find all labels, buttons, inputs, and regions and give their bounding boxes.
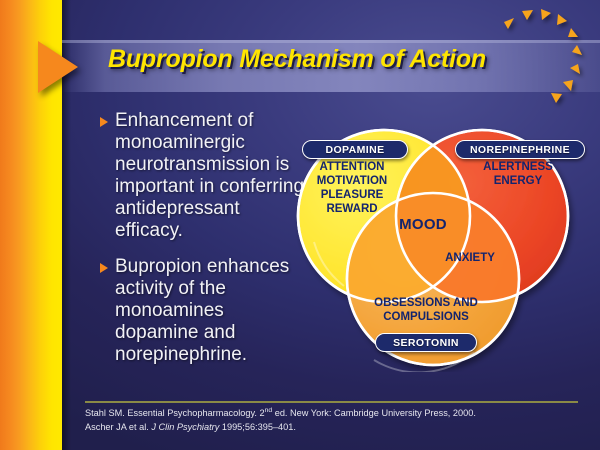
venn-pill-serotonin: SEROTONIN xyxy=(375,333,477,352)
citation-1-b: ed. New York: Cambridge University Press… xyxy=(272,408,476,418)
bullet-text: Bupropion enhances activity of the monoa… xyxy=(115,256,305,366)
venn-overlap-anxiety: ANXIETY xyxy=(430,251,510,265)
venn-items-serotonin: OBSESSIONS AND COMPULSIONS xyxy=(361,296,491,324)
venn-pill-dopamine: DOPAMINE xyxy=(302,140,408,159)
citation-2-journal: J Clin Psychiatry xyxy=(151,422,219,432)
citation-2-b: 1995;56:395–401. xyxy=(219,422,296,432)
venn-pill-norepinephrine: NOREPINEPHRINE xyxy=(455,140,585,159)
bullet-triangle-icon xyxy=(100,263,108,273)
citation-1-a: Stahl SM. Essential Psychopharmacology. … xyxy=(85,408,265,418)
bullet-text: Enhancement of monoaminergic neurotransm… xyxy=(115,110,305,242)
venn-items-dopamine: ATTENTION MOTIVATION PLEASURE REWARD xyxy=(300,160,404,216)
list-item: Enhancement of monoaminergic neurotransm… xyxy=(100,110,305,242)
citation-2-a: Ascher JA et al. xyxy=(85,422,151,432)
sun-moon-decoration xyxy=(470,4,598,114)
crescent-moon-icon xyxy=(470,4,598,114)
bullet-list: Enhancement of monoaminergic neurotransm… xyxy=(100,110,305,380)
venn-overlap-mood: MOOD xyxy=(388,216,458,234)
bullet-triangle-icon xyxy=(100,117,108,127)
title-arrow-icon xyxy=(38,41,78,93)
citation-line-2: Ascher JA et al. J Clin Psychiatry 1995;… xyxy=(85,420,585,434)
citation-line-1: Stahl SM. Essential Psychopharmacology. … xyxy=(85,406,585,420)
page-title: Bupropion Mechanism of Action xyxy=(108,45,486,74)
footer-divider xyxy=(85,401,578,403)
list-item: Bupropion enhances activity of the monoa… xyxy=(100,256,305,366)
citation-block: Stahl SM. Essential Psychopharmacology. … xyxy=(85,406,585,435)
venn-items-norepinephrine: ALERTNESS ENERGY xyxy=(462,160,574,188)
slide: Bupropion Mechanism of Action xyxy=(0,0,600,450)
